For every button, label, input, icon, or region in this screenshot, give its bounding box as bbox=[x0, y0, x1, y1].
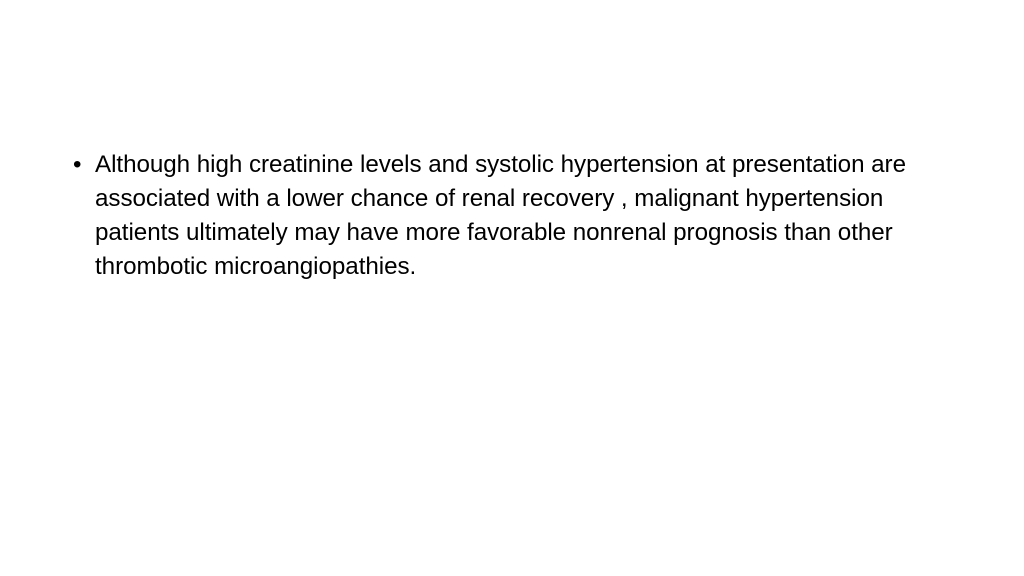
slide-canvas: • Although high creatinine levels and sy… bbox=[0, 0, 1024, 576]
list-item: • Although high creatinine levels and sy… bbox=[62, 148, 952, 284]
bullet-point-icon: • bbox=[73, 148, 81, 182]
content-placeholder: • Although high creatinine levels and sy… bbox=[62, 148, 952, 284]
bullet-list: • Although high creatinine levels and sy… bbox=[62, 148, 952, 284]
bullet-item-text: Although high creatinine levels and syst… bbox=[95, 151, 906, 280]
